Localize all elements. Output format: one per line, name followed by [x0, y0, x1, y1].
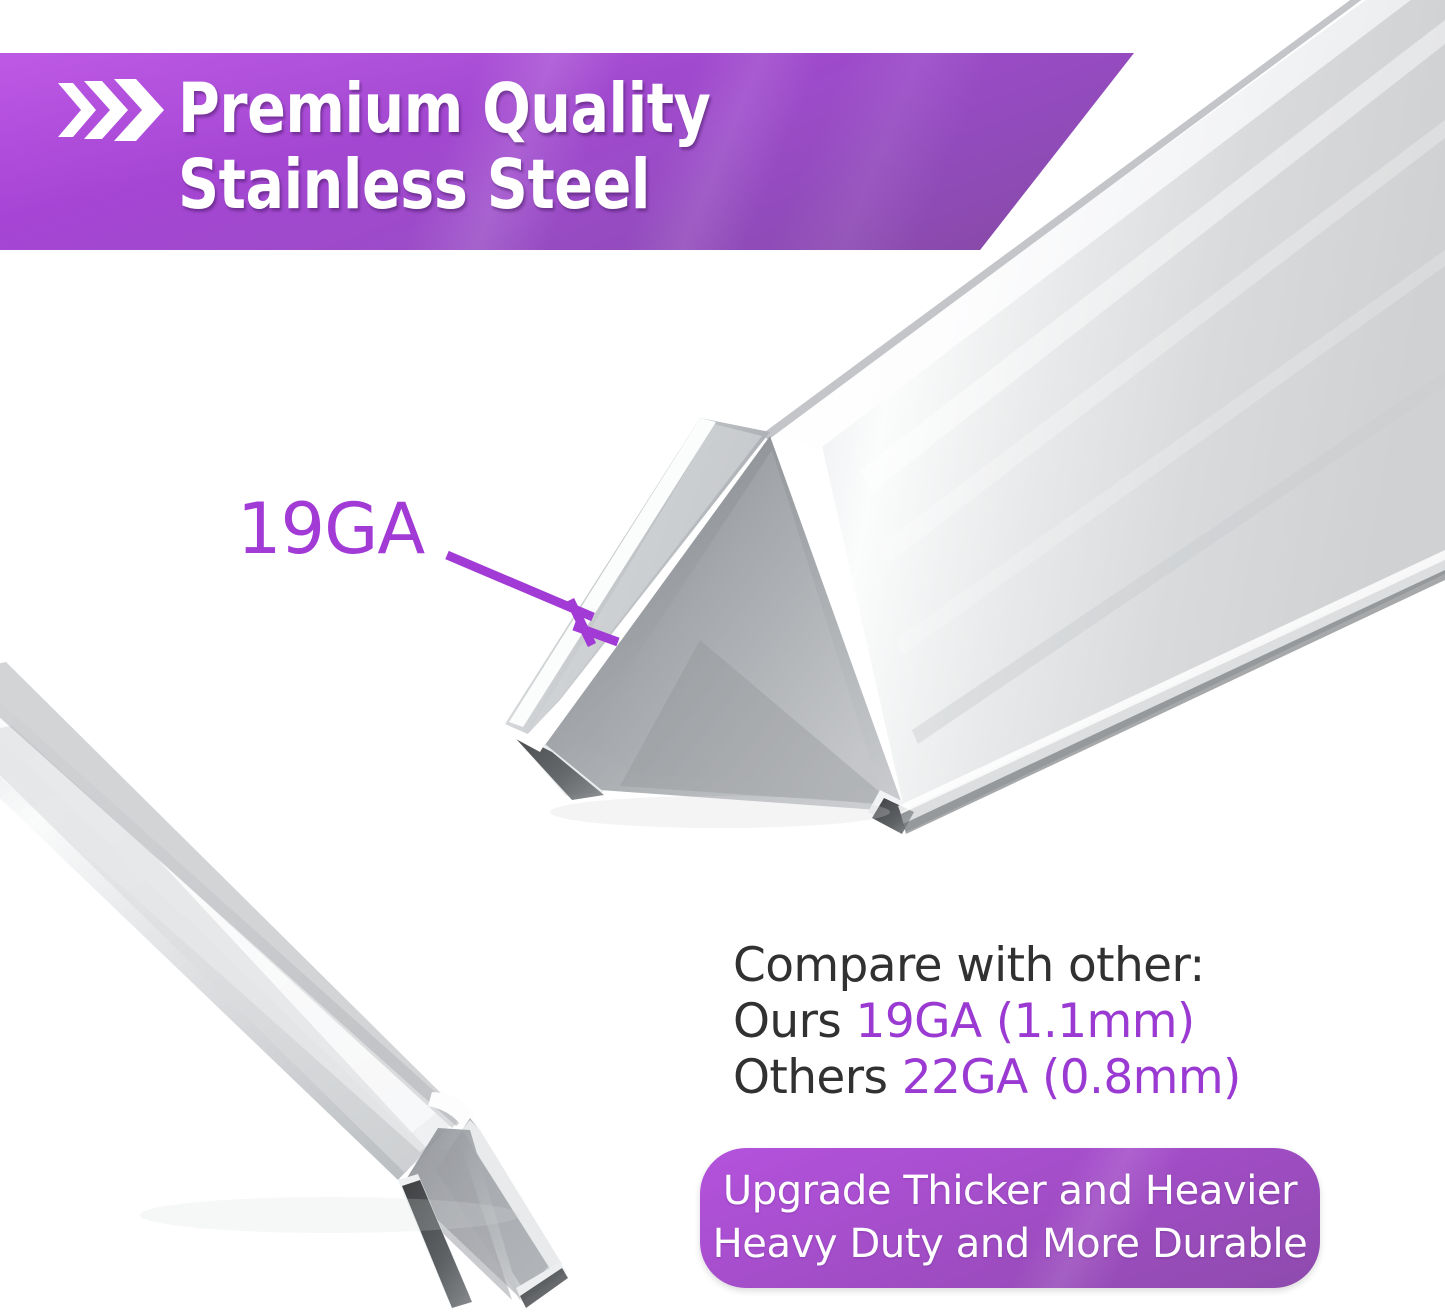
comparison-row-ours: Ours 19GA (1.1mm): [733, 994, 1241, 1050]
upgrade-pill-callout: Upgrade Thicker and Heavier Heavy Duty a…: [700, 1148, 1320, 1288]
gauge-callout-label: 19GA: [237, 494, 424, 564]
comparison-ours-prefix: Ours: [733, 994, 856, 1049]
comparison-heading: Compare with other:: [733, 938, 1241, 994]
banner-title: Premium Quality Stainless Steel: [178, 71, 710, 223]
double-chevron-right-icon: [56, 79, 164, 141]
pill-line-1: Upgrade Thicker and Heavier: [723, 1165, 1297, 1218]
pill-line-2: Heavy Duty and More Durable: [713, 1218, 1308, 1271]
comparison-ours-value: 19GA (1.1mm): [856, 994, 1195, 1049]
lower-flavorizer-bar: [0, 646, 568, 1308]
infographic-canvas: Premium Quality Stainless Steel 19GA Com…: [0, 0, 1445, 1314]
callout-leader-line: [447, 555, 618, 645]
comparison-others-prefix: Others: [733, 1050, 902, 1105]
comparison-row-others: Others 22GA (0.8mm): [733, 1050, 1241, 1106]
comparison-others-value: 22GA (0.8mm): [902, 1050, 1241, 1105]
header-banner: Premium Quality Stainless Steel: [0, 53, 1134, 250]
comparison-text-block: Compare with other: Ours 19GA (1.1mm) Ot…: [733, 938, 1241, 1106]
